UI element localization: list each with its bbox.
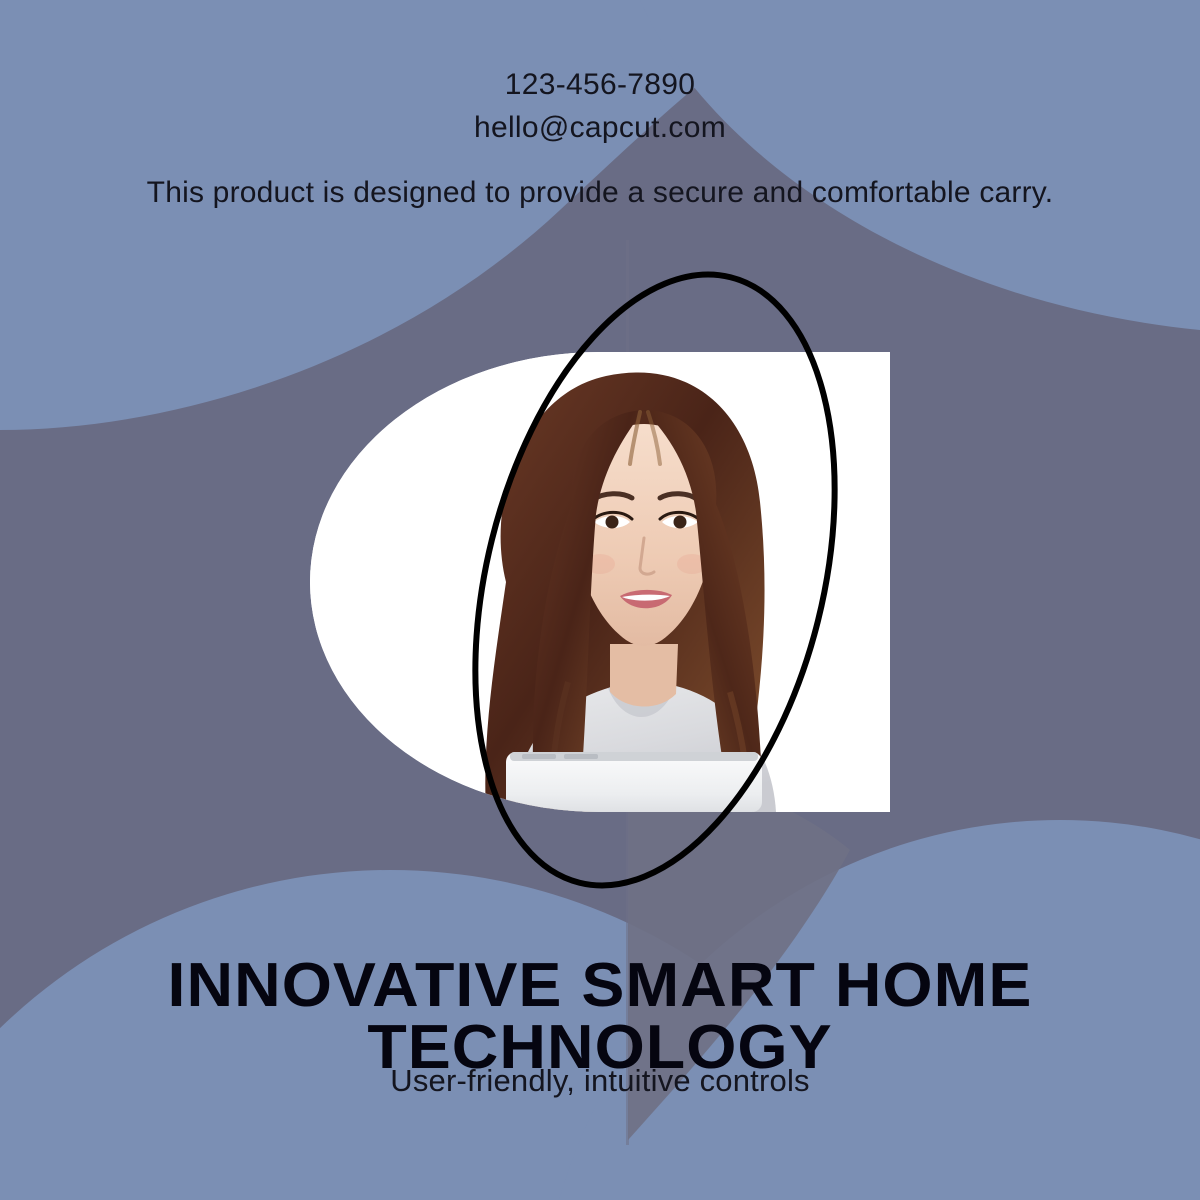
contact-block: 123-456-7890 hello@capcut.com — [0, 64, 1200, 149]
tagline-text: This product is designed to provide a se… — [105, 172, 1095, 215]
portrait-photo — [310, 352, 890, 812]
page-subtitle: User-friendly, intuitive controls — [0, 1062, 1200, 1099]
poster-canvas: 123-456-7890 hello@capcut.com This produ… — [0, 0, 1200, 1200]
phone-number: 123-456-7890 — [0, 64, 1200, 107]
page-title: INNOVATIVE SMART HOME TECHNOLOGY — [0, 955, 1200, 1079]
portrait-photo-card — [310, 352, 890, 812]
email-address: hello@capcut.com — [0, 107, 1200, 150]
